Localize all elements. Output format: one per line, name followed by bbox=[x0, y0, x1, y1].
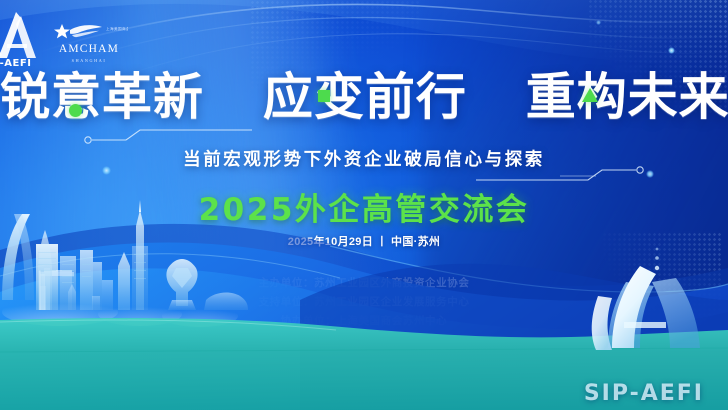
organizer-row: 支持单位：苏州工业园区企业发展服务中心 bbox=[0, 293, 728, 312]
conference-poster: P-AEFI 上海美国商会 AMCHAM SHANGHAI 锐意革新 bbox=[0, 0, 728, 410]
accent-square-icon bbox=[318, 90, 330, 102]
headline-segment-3: 重构未来 bbox=[526, 68, 728, 126]
accent-dot-icon bbox=[69, 104, 82, 117]
spark-particle bbox=[596, 20, 601, 25]
organizer-row: 主办单位：苏州工业园区外商投资企业协会 bbox=[0, 274, 728, 293]
headline-segment-2: 应变前行 bbox=[263, 68, 467, 126]
spark-particle bbox=[668, 47, 675, 54]
sip-aefi-logo-text: P-AEFI bbox=[0, 58, 31, 68]
headline-segment-1: 锐意革新 bbox=[0, 68, 204, 126]
amcham-city-label: SHANGHAI bbox=[50, 58, 128, 63]
headline-segment-1-text: 锐意革新 bbox=[0, 68, 204, 126]
organizer-row: 协办单位：上海美国商会苏州中心 bbox=[0, 312, 728, 331]
amcham-cn-label: 上海美国商会 bbox=[106, 26, 128, 31]
spark-particle bbox=[646, 170, 654, 178]
amcham-shanghai-logo: 上海美国商会 AMCHAM SHANGHAI bbox=[50, 21, 128, 63]
poster-subtitle: 当前宏观形势下外资企业破局信心与探索 bbox=[0, 146, 728, 171]
organizer-list: 主办单位：苏州工业园区外商投资企业协会 支持单位：苏州工业园区企业发展服务中心 … bbox=[0, 274, 728, 331]
amcham-wordmark: AMCHAM bbox=[50, 44, 128, 56]
headline-segment-3-text: 重构未来 bbox=[526, 68, 728, 126]
headline-segment-2-text: 应变前行 bbox=[263, 68, 467, 126]
poster-headline: 锐意革新 应变前行 重构未来 bbox=[0, 68, 728, 126]
sip-aefi-emblem-wordmark: SIP-AEFI bbox=[584, 381, 704, 406]
accent-triangle-icon bbox=[582, 88, 598, 102]
poster-theme-line: 2025外企高管交流会 bbox=[0, 184, 728, 229]
poster-date-location: 2025年10月29日 丨 中国·苏州 bbox=[0, 233, 728, 249]
